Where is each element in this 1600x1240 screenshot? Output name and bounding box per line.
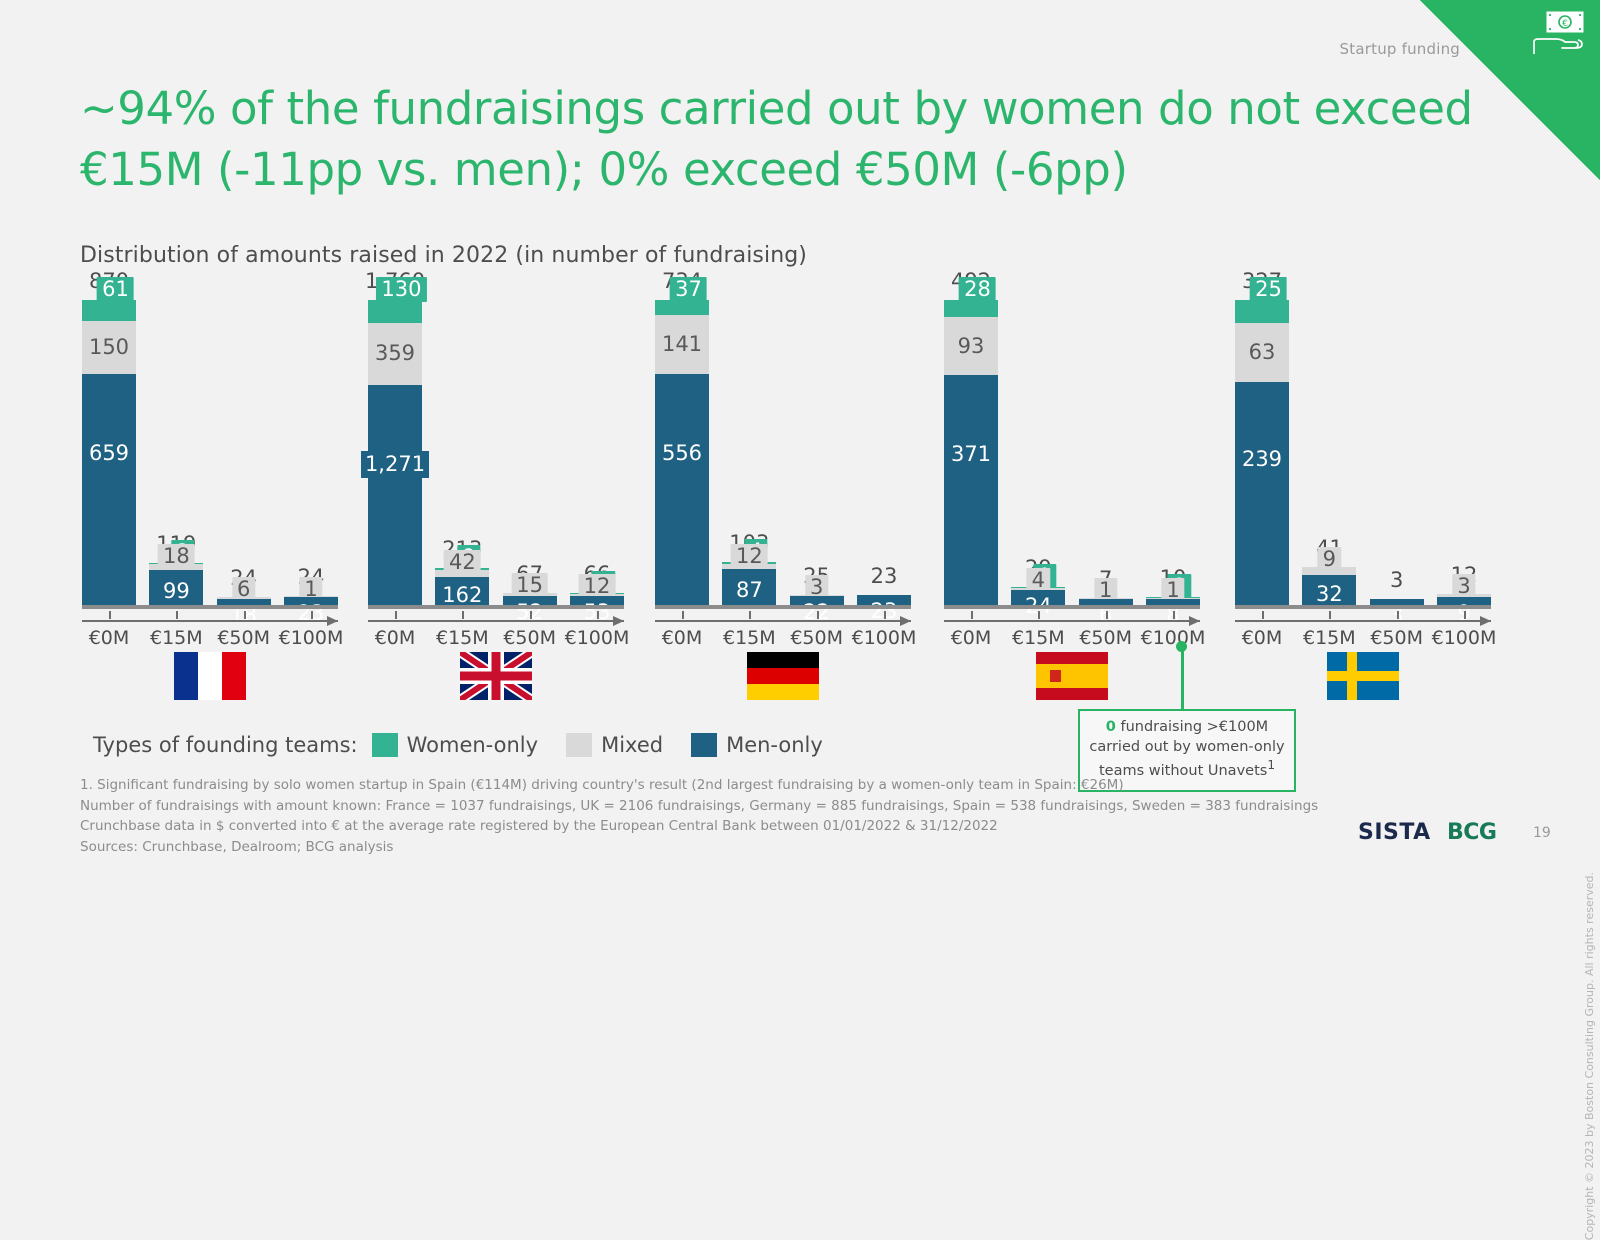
axis-tick — [244, 611, 246, 619]
svg-text:€: € — [1562, 19, 1568, 29]
axis-label-1: €15M — [1303, 627, 1356, 649]
axis-tick — [1262, 611, 1264, 619]
segment-men-only: 1,271 — [368, 385, 422, 605]
callout-highlight: 0 — [1106, 719, 1116, 735]
segment-women-only: 28 — [944, 300, 998, 317]
segment-label-women-only: 28 — [959, 277, 996, 302]
axis-label-0: €0M — [951, 627, 992, 649]
bar-sweden-3[interactable]: 1239 — [1437, 594, 1491, 605]
segment-men-only: 239 — [1235, 382, 1289, 605]
flag-france-icon — [174, 652, 246, 700]
chart-legend: Types of founding teams: Women-only Mixe… — [93, 733, 851, 757]
axis-label-2: €50M — [1370, 627, 1423, 649]
bar-germany-0[interactable]: 73437141556 — [655, 300, 709, 605]
section-label: Startup funding — [1340, 40, 1460, 58]
axis-tick — [530, 611, 532, 619]
segment-mixed: 42 — [435, 570, 489, 577]
segment-mixed: 150 — [82, 321, 136, 374]
bar-germany-2[interactable]: 25322 — [790, 595, 844, 605]
bars-container: 327256323941932331239 — [1235, 300, 1491, 605]
segment-men-only: 53 — [570, 596, 624, 605]
chart-group-spain: 492289337129142471610118€0M€15M€50M€100M — [944, 300, 1200, 700]
bars-container: 492289337129142471610118 — [944, 300, 1200, 605]
segment-label-women-only: 37 — [670, 277, 707, 302]
axis-tick — [311, 611, 313, 619]
segment-label-mixed: 150 — [89, 337, 129, 358]
segment-label-mixed: 4 — [1027, 568, 1050, 593]
bar-france-3[interactable]: 24123 — [284, 596, 338, 605]
footnotes: 1. Significant fundraising by solo women… — [80, 775, 1400, 857]
chart-group-united-kingdom: 1,7601303591,2712139421626715526611253€0… — [368, 300, 624, 700]
axis-tick — [817, 611, 819, 619]
bar-united-kingdom-1[interactable]: 213942162 — [435, 568, 489, 605]
segment-women-only: 37 — [655, 300, 709, 315]
axis-label-0: €0M — [1242, 627, 1283, 649]
segment-label-mixed: 141 — [662, 334, 702, 355]
axis-label-1: €15M — [1012, 627, 1065, 649]
segment-men-only: 659 — [82, 374, 136, 605]
segment-men-only: 371 — [944, 375, 998, 605]
copyright-notice: Copyright © 2023 by Boston Consulting Gr… — [1583, 872, 1596, 1240]
axis-arrowhead — [613, 616, 624, 626]
segment-label-women-only: 25 — [1250, 277, 1287, 302]
axis-line — [944, 620, 1200, 622]
axis-label-2: €50M — [1079, 627, 1132, 649]
flag-germany-icon — [747, 652, 819, 700]
segment-mixed: 359 — [368, 323, 422, 385]
segment-label-men-only: 87 — [736, 580, 763, 601]
segment-women-only: 25 — [1235, 300, 1289, 323]
axis-label-1: €15M — [723, 627, 776, 649]
segment-label-men-only: 659 — [89, 443, 129, 464]
axis-label-0: €0M — [375, 627, 416, 649]
chart-group-france: 87061150659119218992461824123€0M€15M€50M… — [82, 300, 338, 700]
axis-arrowhead — [900, 616, 911, 626]
axis-tick — [1173, 611, 1175, 619]
chart-subtitle: Distribution of amounts raised in 2022 (… — [80, 243, 807, 268]
axis-label-0: €0M — [89, 627, 130, 649]
footnote-3: Crunchbase data in $ converted into € at… — [80, 816, 1400, 837]
axis-label-3: €100M — [852, 627, 917, 649]
bar-sweden-0[interactable]: 3272563239 — [1235, 300, 1289, 605]
bar-france-0[interactable]: 87061150659 — [82, 300, 136, 605]
segment-women-only: 61 — [82, 300, 136, 321]
bar-united-kingdom-2[interactable]: 671552 — [503, 593, 557, 605]
footnote-4: Sources: Crunchbase, Dealroom; BCG analy… — [80, 837, 1400, 858]
segment-label-women-only: 61 — [97, 277, 134, 302]
legend-swatch-women — [372, 733, 398, 757]
chart-group-sweden: 327256323941932331239€0M€15M€50M€100M — [1235, 300, 1491, 700]
axis-label-3: €100M — [565, 627, 630, 649]
segment-mixed: 63 — [1235, 323, 1289, 382]
axis-tick — [1038, 611, 1040, 619]
flag-uk-icon — [460, 652, 532, 700]
segment-men-only: 23 — [284, 597, 338, 605]
bar-spain-0[interactable]: 4922893371 — [944, 300, 998, 605]
flag-sweden-icon — [1327, 652, 1399, 700]
chart-group-germany: 7343714155610341287253222323€0M€15M€50M€… — [655, 300, 911, 700]
axis-tick — [109, 611, 111, 619]
axis-tick — [1397, 611, 1399, 619]
bar-france-1[interactable]: 11921899 — [149, 563, 203, 605]
segment-label-mixed: 12 — [731, 544, 768, 569]
axis-tick — [395, 611, 397, 619]
footnote-2: Number of fundraisings with amount known… — [80, 796, 1400, 817]
axis-arrow — [944, 616, 1200, 626]
segment-men-only: 24 — [1011, 590, 1065, 605]
axis-line — [1235, 620, 1491, 622]
callout-superscript: 1 — [1267, 758, 1275, 772]
legend-label-women-only: Women-only — [407, 733, 538, 757]
bar-total-label: 23 — [871, 564, 898, 588]
axis-line — [82, 620, 338, 622]
bar-spain-3[interactable]: 10118 — [1146, 597, 1200, 605]
segment-label-mixed: 15 — [511, 573, 548, 598]
axis-arrow — [368, 616, 624, 626]
axis-tick — [971, 611, 973, 619]
axis-baseline — [368, 605, 624, 609]
segment-men-only: 9 — [1437, 597, 1491, 605]
chart-area: 87061150659119218992461824123€0M€15M€50M… — [0, 300, 1600, 700]
segment-label-men-only: 162 — [442, 585, 482, 606]
legend-item-men-only: Men-only — [691, 733, 823, 757]
axis-tick — [462, 611, 464, 619]
bars-container: 87061150659119218992461824123 — [82, 300, 338, 605]
callout-connector — [1181, 645, 1184, 711]
axis-arrow — [1235, 616, 1491, 626]
axis-tick — [1106, 611, 1108, 619]
axis-label-2: €50M — [217, 627, 270, 649]
axis-tick — [682, 611, 684, 619]
axis-label-2: €50M — [503, 627, 556, 649]
segment-men-only: 22 — [790, 596, 844, 605]
axis-tick — [884, 611, 886, 619]
segment-men-only: 162 — [435, 577, 489, 605]
bar-total-label: 3 — [1390, 568, 1403, 592]
segment-label-mixed: 9 — [1318, 547, 1341, 572]
axis-label-3: €100M — [1432, 627, 1497, 649]
segment-label-women-only: 130 — [376, 277, 426, 302]
legend-label-men-only: Men-only — [726, 733, 823, 757]
axis-label-3: €100M — [279, 627, 344, 649]
axis-baseline — [82, 605, 338, 609]
axis-arrowhead — [1480, 616, 1491, 626]
bars-container: 7343714155610341287253222323 — [655, 300, 911, 605]
legend-title: Types of founding teams: — [93, 733, 358, 757]
segment-label-mixed: 42 — [444, 550, 481, 575]
axis-baseline — [1235, 605, 1491, 609]
bar-france-2[interactable]: 24618 — [217, 597, 271, 605]
segment-label-men-only: 99 — [163, 581, 190, 602]
axis-label-3: €100M — [1141, 627, 1206, 649]
bar-germany-3[interactable]: 2323 — [857, 595, 911, 605]
legend-label-mixed: Mixed — [601, 733, 663, 757]
axis-tick — [1464, 611, 1466, 619]
axis-label-1: €15M — [150, 627, 203, 649]
bar-germany-1[interactable]: 10341287 — [722, 562, 776, 605]
axis-label-2: €50M — [790, 627, 843, 649]
footnote-1: 1. Significant fundraising by solo women… — [80, 775, 1400, 796]
segment-label-men-only: 556 — [662, 443, 702, 464]
axis-baseline — [944, 605, 1200, 609]
segment-label-men-only: 32 — [1316, 584, 1343, 605]
flag-spain-icon — [1036, 652, 1108, 700]
bar-sweden-1[interactable]: 41932 — [1302, 567, 1356, 605]
axis-tick — [597, 611, 599, 619]
axis-line — [655, 620, 911, 622]
bcg-logo: BCG — [1447, 820, 1496, 845]
segment-men-only: 87 — [722, 569, 776, 605]
segment-label-mixed: 18 — [158, 544, 195, 569]
bar-united-kingdom-0[interactable]: 1,7601303591,271 — [368, 300, 422, 605]
segment-men-only: 23 — [857, 595, 911, 605]
axis-label-1: €15M — [436, 627, 489, 649]
legend-item-mixed: Mixed — [566, 733, 663, 757]
segment-label-mixed: 93 — [958, 336, 985, 357]
callout-line2: carried out by women-only — [1089, 739, 1284, 755]
axis-baseline — [655, 605, 911, 609]
segment-men-only: 32 — [1302, 575, 1356, 605]
money-in-hand-icon: € — [1532, 8, 1588, 60]
page-number: 19 — [1533, 825, 1551, 841]
axis-arrowhead — [327, 616, 338, 626]
segment-label-mixed: 3 — [1452, 574, 1475, 599]
segment-label-men-only: 1,271 — [361, 451, 429, 478]
segment-mixed: 141 — [655, 315, 709, 374]
segment-women-only: 130 — [368, 300, 422, 323]
axis-tick — [1329, 611, 1331, 619]
bar-spain-1[interactable]: 291424 — [1011, 587, 1065, 605]
segment-label-mixed: 63 — [1249, 342, 1276, 363]
bar-united-kingdom-3[interactable]: 6611253 — [570, 593, 624, 605]
axis-arrow — [655, 616, 911, 626]
segment-label-men-only: 239 — [1242, 449, 1282, 470]
axis-tick — [749, 611, 751, 619]
page-title: ~94% of the fundraisings carried out by … — [80, 78, 1480, 200]
axis-label-0: €0M — [662, 627, 703, 649]
segment-mixed: 93 — [944, 317, 998, 375]
bars-container: 1,7601303591,2712139421626715526611253 — [368, 300, 624, 605]
segment-mixed: 9 — [1302, 567, 1356, 575]
axis-arrowhead — [1189, 616, 1200, 626]
axis-arrow — [82, 616, 338, 626]
bar-spain-2[interactable]: 716 — [1079, 598, 1133, 605]
segment-men-only: 99 — [149, 570, 203, 605]
sista-logo: SISTA — [1358, 820, 1431, 845]
legend-swatch-men — [691, 733, 717, 757]
legend-item-women-only: Women-only — [372, 733, 538, 757]
legend-swatch-mixed — [566, 733, 592, 757]
segment-label-mixed: 359 — [375, 343, 415, 364]
axis-tick — [176, 611, 178, 619]
segment-men-only: 556 — [655, 374, 709, 605]
axis-line — [368, 620, 624, 622]
segment-men-only: 52 — [503, 596, 557, 605]
callout-line1: fundraising >€100M — [1116, 719, 1268, 735]
segment-label-men-only: 371 — [951, 444, 991, 465]
